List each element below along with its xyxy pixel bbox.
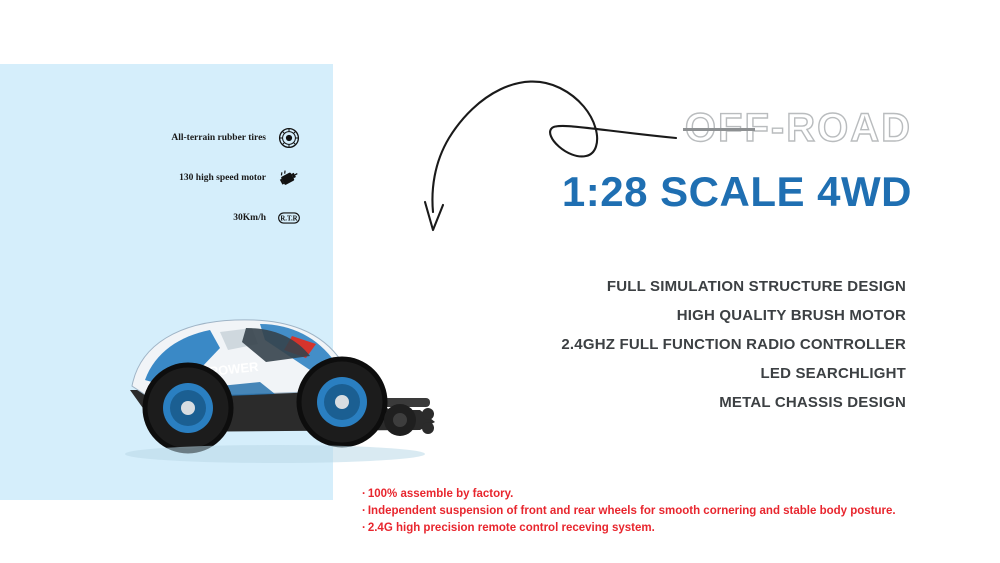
tire-icon	[278, 127, 300, 149]
feature-list: FULL SIMULATION STRUCTURE DESIGN HIGH QU…	[561, 272, 906, 417]
feature-item: 2.4GHZ FULL FUNCTION RADIO CONTROLLER	[561, 330, 906, 359]
scale-heading: 1:28 SCALE 4WD	[562, 168, 912, 216]
spec-row-motor: 130 high speed motor	[120, 158, 300, 198]
rtr-icon-text: R.T.R	[280, 215, 297, 222]
red-note-text: 100% assemble by factory.	[368, 488, 514, 500]
red-note-item: ·2.4G high precision remote control rece…	[362, 520, 896, 537]
spec-label-motor: 130 high speed motor	[179, 173, 266, 183]
spec-label-tires: All-terrain rubber tires	[171, 133, 266, 143]
rtr-icon: R.T.R	[278, 207, 300, 229]
bullet-dot-icon: ·	[362, 522, 366, 534]
feature-item: HIGH QUALITY BRUSH MOTOR	[561, 301, 906, 330]
red-note-text: 2.4G high precision remote control recev…	[368, 522, 655, 534]
spec-row-tires: All-terrain rubber tires	[120, 118, 300, 158]
red-notes-list: ·100% assemble by factory. ·Independent …	[362, 486, 896, 537]
curved-arrow-icon	[400, 60, 700, 260]
product-banner: All-terrain rubber tires	[0, 0, 1000, 563]
spec-row-speed: 30Km/h R.T.R	[120, 198, 300, 238]
red-note-item: ·Independent suspension of front and rea…	[362, 503, 896, 520]
feature-item: FULL SIMULATION STRUCTURE DESIGN	[561, 272, 906, 301]
spec-label-speed: 30Km/h	[233, 213, 266, 223]
feature-item: LED SEARCHLIGHT	[561, 359, 906, 388]
red-note-item: ·100% assemble by factory.	[362, 486, 896, 503]
bullet-dot-icon: ·	[362, 488, 366, 500]
feature-item: METAL CHASSIS DESIGN	[561, 388, 906, 417]
rc-car-image: POWER	[60, 270, 460, 470]
motor-icon	[278, 167, 300, 189]
spec-list: All-terrain rubber tires	[120, 118, 300, 238]
car-front-wheel	[144, 364, 232, 452]
car-rear-wheel	[298, 358, 386, 446]
red-note-text: Independent suspension of front and rear…	[368, 505, 896, 517]
offroad-underline-rule	[683, 128, 755, 131]
bullet-dot-icon: ·	[362, 505, 366, 517]
